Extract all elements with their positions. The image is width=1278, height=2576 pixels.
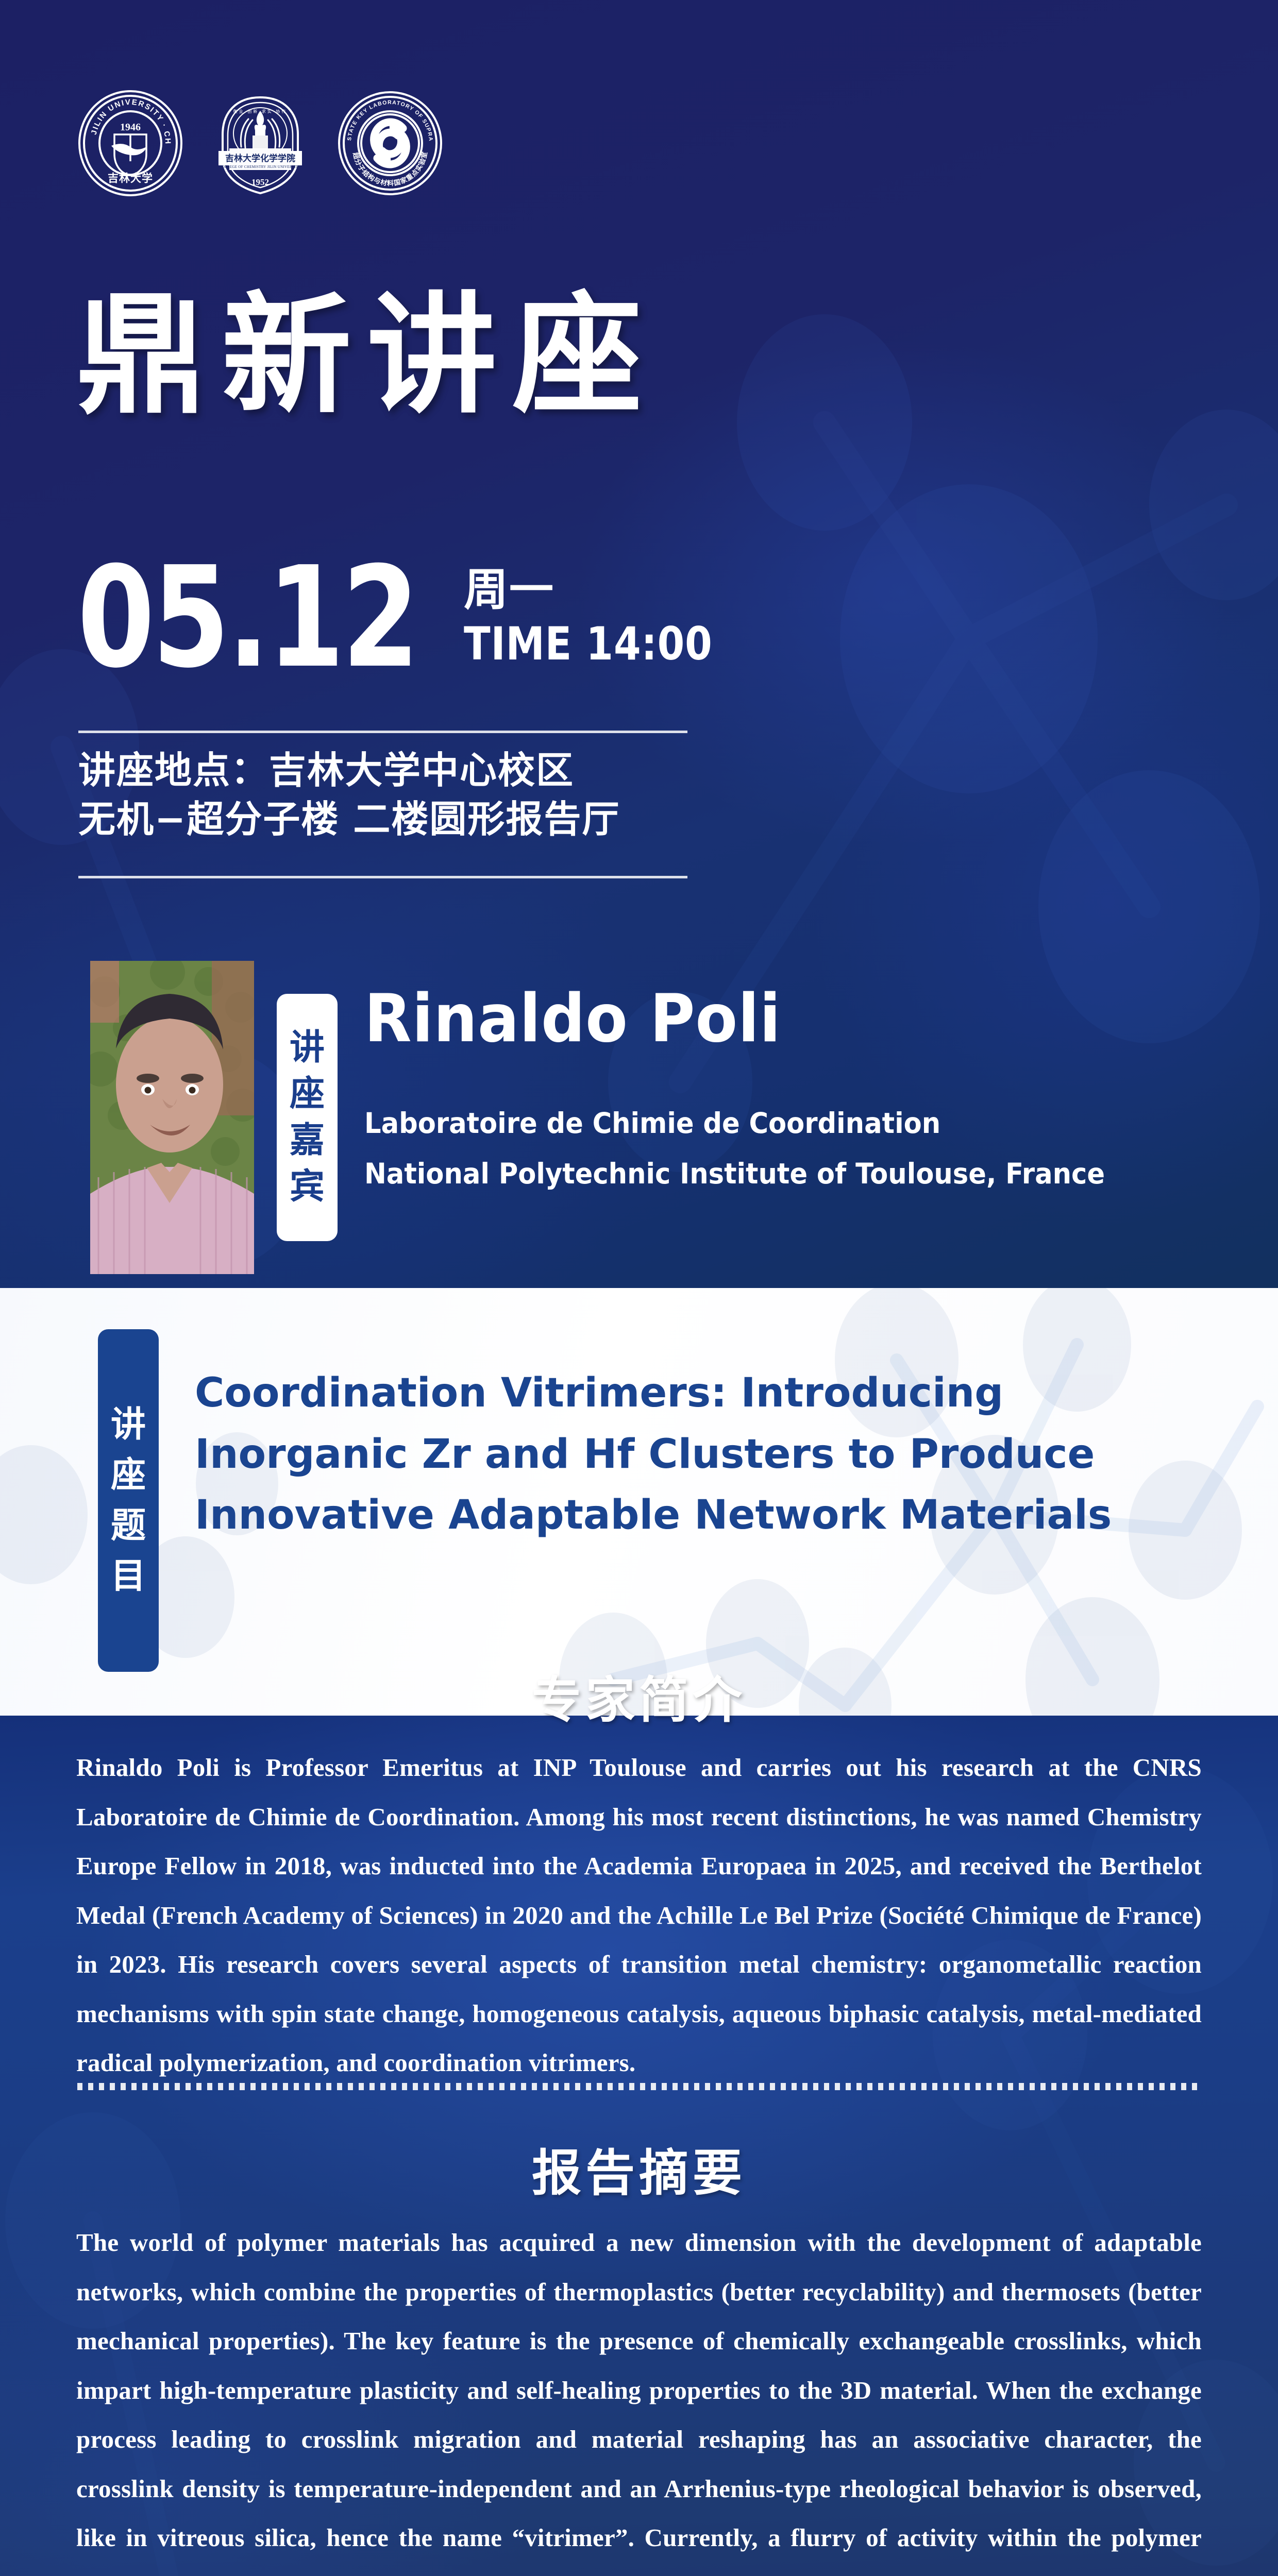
speaker-name: Rinaldo Poli [364,980,1105,1057]
time-label: TIME 14:00 [464,617,713,670]
speaker-affiliation-line-1: Laboratoire de Chimie de Coordination [364,1098,1105,1149]
svg-text:COLLEGE OF CHEMISTRY JILIN UNI: COLLEGE OF CHEMISTRY JILIN UNIVERSITY [220,165,300,169]
abstract-heading: 报告摘要 [0,2133,1278,2205]
topic-badge-char-0: 讲 [111,1408,146,1443]
page-title: 鼎新讲座 [76,291,658,421]
speaker-badge-char-3: 宾 [290,1170,325,1205]
speaker-affiliation: Laboratoire de Chimie de Coordination Na… [364,1098,1105,1199]
venue-block: 讲座地点：吉林大学中心校区 无机−超分子楼 二楼圆形报告厅 [78,746,620,844]
date-number: 05.12 [77,561,417,674]
state-key-laboratory-seal: STATE KEY LABORATORY OF SUPRAMOLECULAR S… [337,90,443,196]
topic-badge: 讲 座 题 目 [98,1329,159,1672]
svg-text:1952: 1952 [251,177,269,187]
abstract-text-part-1: The world of polymer materials has acqui… [76,2228,1202,2576]
svg-text:敬业 创新 求实 协作: 敬业 创新 求实 协作 [233,109,288,114]
venue-line-1: 讲座地点：吉林大学中心校区 [78,746,620,795]
svg-text:1946: 1946 [120,122,141,133]
speaker-badge: 讲 座 嘉 宾 [277,994,338,1241]
logo-row: JILIN UNIVERSITY · CHINA 1946 吉林大学 [77,90,443,196]
venue-line-2: 无机−超分子楼 二楼圆形报告厅 [78,795,620,844]
date-block: 05.12 周一 TIME 14:00 [77,561,753,674]
svg-text:吉林大学: 吉林大学 [108,172,153,184]
bio-paragraph: Rinaldo Poli is Professor Emeritus at IN… [76,1743,1202,2088]
speaker-photo [90,961,254,1274]
bio-heading: 专家简介 [0,1660,1278,1732]
speaker-badge-char-0: 讲 [290,1030,325,1065]
divider-top [78,731,687,733]
svg-text:吉林大学化学学院: 吉林大学化学学院 [225,153,295,164]
topic-badge-char-1: 座 [111,1458,146,1493]
lecture-title: Coordination Vitrimers: Introducing Inor… [195,1363,1205,1546]
topic-badge-char-2: 题 [111,1509,146,1544]
speaker-badge-char-2: 嘉 [290,1123,325,1158]
abstract-paragraph: The world of polymer materials has acqui… [76,2218,1202,2576]
speaker-affiliation-line-2: National Polytechnic Institute of Toulou… [364,1149,1105,1199]
dashed-divider [77,2083,1201,2090]
hero-section: JILIN UNIVERSITY · CHINA 1946 吉林大学 [0,0,1278,1288]
jilin-university-seal: JILIN UNIVERSITY · CHINA 1946 吉林大学 [77,90,183,196]
speaker-badge-char-1: 座 [290,1077,325,1112]
topic-badge-char-3: 目 [111,1559,146,1594]
speaker-info: Rinaldo Poli Laboratoire de Chimie de Co… [364,961,1161,1199]
divider-bottom [78,876,687,878]
weekday-label: 周一 [464,567,753,613]
college-of-chemistry-seal: 吉林大学化学学院 COLLEGE OF CHEMISTRY JILIN UNIV… [207,90,313,196]
speaker-block: 讲 座 嘉 宾 Rinaldo Poli Laboratoire de Chim… [90,961,1161,1274]
